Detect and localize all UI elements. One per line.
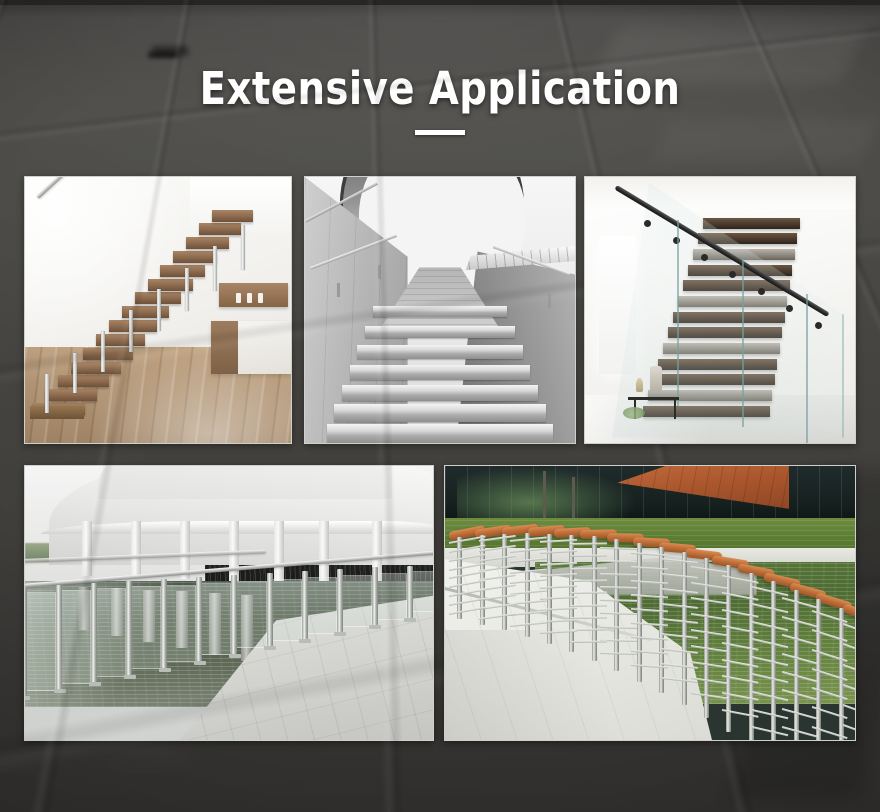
post-base	[229, 654, 241, 658]
glass-panel	[165, 585, 196, 663]
building-column	[82, 521, 92, 576]
railing-post	[547, 534, 552, 645]
curved-walkway-scene	[445, 466, 855, 740]
railing-post	[196, 577, 202, 661]
post-base	[299, 639, 311, 643]
railing-post	[302, 571, 308, 639]
building-column	[319, 521, 329, 585]
handrail-bracket	[786, 305, 793, 312]
building-column	[274, 521, 284, 583]
glass-panel	[60, 590, 91, 683]
glass-panel	[95, 588, 126, 676]
railing-post	[126, 581, 132, 675]
post-base	[89, 682, 101, 686]
post-base	[124, 675, 136, 679]
building-column	[131, 521, 141, 578]
walkway-shadow	[445, 630, 732, 740]
post-base	[264, 646, 276, 650]
railing-cable	[570, 579, 607, 581]
black-and-white-filter	[305, 177, 575, 443]
application-gallery	[0, 0, 880, 812]
railing-post	[161, 579, 167, 668]
railing-post	[101, 331, 105, 372]
steel-rod-railing	[36, 196, 281, 425]
glass-panel	[411, 571, 433, 612]
glass-panel	[200, 583, 231, 656]
railing-post	[407, 566, 413, 618]
post-base	[54, 689, 66, 693]
gallery-image-lakeside-walkway-glass-railing[interactable]	[24, 465, 434, 741]
table-leg	[674, 400, 676, 419]
railing-post	[241, 225, 245, 270]
railing-post	[25, 587, 27, 697]
handrail-bracket	[815, 322, 822, 329]
handrail-bracket	[758, 288, 765, 295]
post-base	[334, 632, 346, 636]
curved-building-upper	[98, 466, 392, 499]
vase	[650, 366, 662, 392]
railing-post	[157, 289, 161, 332]
post-base	[159, 668, 171, 672]
railing-post	[614, 539, 619, 671]
railing-post	[267, 573, 273, 646]
gallery-image-outdoor-concrete-stairs-bw[interactable]	[304, 176, 576, 444]
railing-post	[337, 569, 343, 632]
glass-panel-edge	[677, 220, 679, 406]
glass-panel-edge	[806, 294, 808, 443]
glass-panel	[130, 586, 161, 669]
gallery-image-glass-balustrade-staircase[interactable]	[584, 176, 856, 444]
trees	[457, 466, 637, 518]
railing-post	[231, 575, 237, 653]
tree-trunk	[572, 477, 575, 518]
indoor-floating-wood-staircase-scene	[25, 177, 291, 443]
glass-panel	[271, 579, 302, 641]
railing-post	[726, 565, 731, 732]
handrail-bracket	[644, 220, 651, 227]
lakeside-walkway-scene	[25, 466, 433, 740]
railing-post	[91, 583, 97, 682]
glass-panel	[376, 573, 407, 620]
page-content: Extensive Application	[0, 0, 880, 812]
gallery-image-curved-walkway-cable-railing[interactable]	[444, 465, 856, 741]
glass-panel	[236, 581, 267, 648]
post-base	[404, 618, 416, 622]
railing-post	[129, 310, 133, 352]
railing-cable	[600, 547, 637, 550]
railing-cable	[570, 567, 607, 569]
glass-panel	[25, 592, 56, 691]
railing-post	[839, 608, 844, 740]
railing-post	[73, 353, 77, 393]
outdoor-concrete-stairs-scene	[305, 177, 575, 443]
post-base	[194, 661, 206, 665]
post-base	[369, 625, 381, 629]
tree-trunk	[543, 471, 546, 518]
glass-balustrade-staircase-scene	[585, 177, 855, 443]
railing-post	[794, 590, 799, 740]
plant	[623, 407, 645, 419]
stair-tread	[703, 218, 800, 229]
railing-post	[372, 567, 378, 625]
railing-post	[185, 268, 189, 311]
handrail-bracket	[701, 254, 708, 261]
railing-post	[213, 246, 217, 290]
glass-panel	[306, 577, 337, 634]
gallery-image-indoor-floating-wood-staircase[interactable]	[24, 176, 292, 444]
console-table-top	[628, 397, 679, 400]
glass-panel	[341, 575, 372, 627]
railing-post	[45, 374, 49, 413]
glass-panel-edge	[742, 257, 744, 427]
railing-post	[56, 585, 62, 689]
small-vase	[636, 378, 643, 392]
railing-post	[637, 543, 642, 682]
